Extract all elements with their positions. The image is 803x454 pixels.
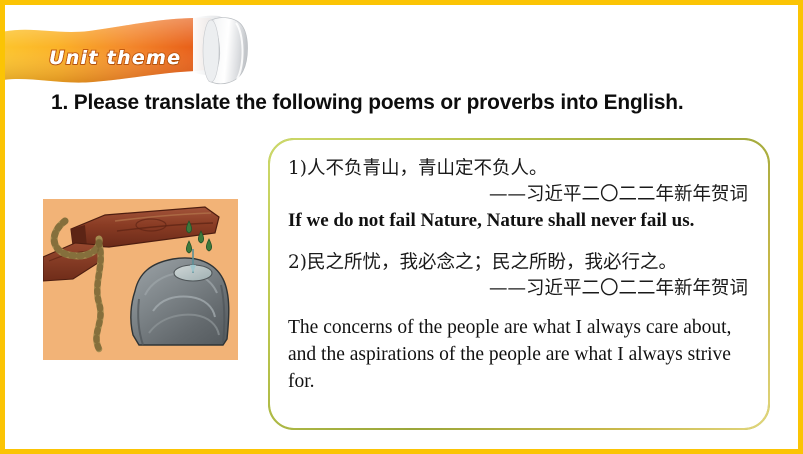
content-box-inner: 1)人不负青山，青山定不负人。 ——习近平二〇二二年新年贺词 If we do … <box>288 156 752 396</box>
unit-theme-banner: Unit theme Unit theme <box>0 11 287 95</box>
spacer-between-items <box>288 233 752 250</box>
spacer-before-translation <box>288 301 752 315</box>
ribbon-curl-opening <box>203 20 219 82</box>
slide-canvas: Unit theme Unit theme 1. Please translat… <box>0 0 803 454</box>
poem-2-english: The concerns of the people are what I al… <box>288 315 750 396</box>
illustration-graphic <box>43 199 238 360</box>
poem-1-chinese: 1)人不负青山，青山定不负人。 <box>288 156 752 182</box>
poem-2-chinese: 2)民之所忧，我必念之；民之所盼，我必行之。 <box>288 250 752 276</box>
page-title: 1. Please translate the following poems … <box>51 90 684 115</box>
poem-1-attribution: ——习近平二〇二二年新年贺词 <box>288 182 752 208</box>
poem-2-attribution: ——习近平二〇二二年新年贺词 <box>288 276 752 302</box>
illustration-image <box>43 199 238 360</box>
banner-label: Unit theme <box>49 47 181 69</box>
poem-1-english: If we do not fail Nature, Nature shall n… <box>288 208 752 233</box>
content-box: 1)人不负青山，青山定不负人。 ——习近平二〇二二年新年贺词 If we do … <box>268 138 770 430</box>
